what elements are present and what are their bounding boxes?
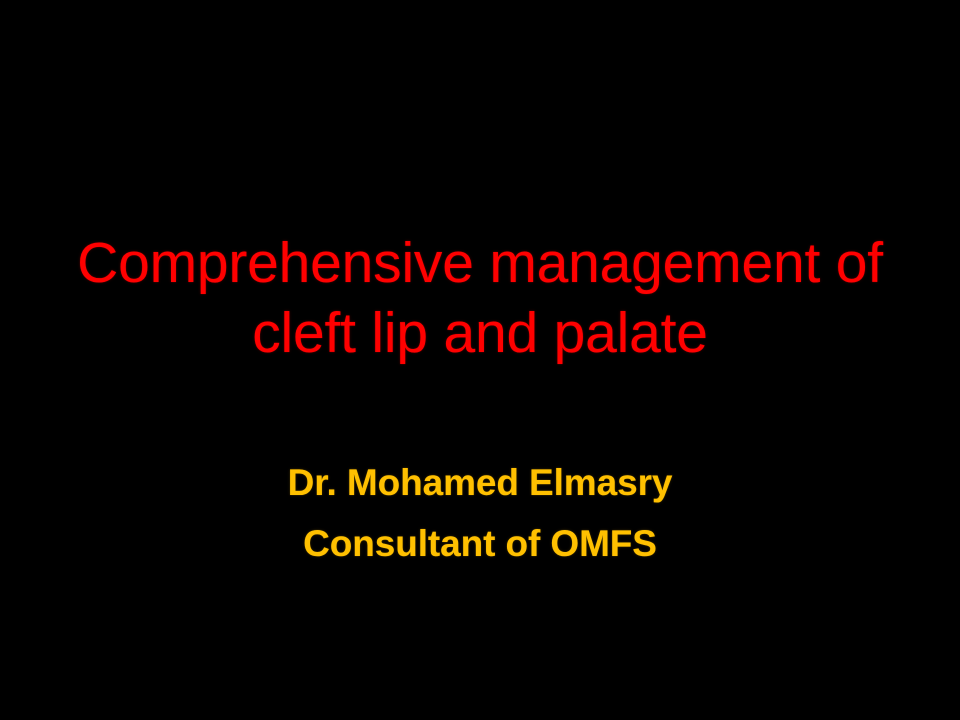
slide-subtitle: Dr. Mohamed Elmasry Consultant of OMFS xyxy=(0,452,960,574)
subtitle-presenter-name: Dr. Mohamed Elmasry xyxy=(40,452,920,513)
subtitle-presenter-role: Consultant of OMFS xyxy=(40,513,920,574)
slide-title: Comprehensive management of cleft lip an… xyxy=(0,228,960,368)
presentation-title-slide: Comprehensive management of cleft lip an… xyxy=(0,0,960,720)
title-line-2: cleft lip and palate xyxy=(40,298,920,368)
title-line-1: Comprehensive management of xyxy=(40,228,920,298)
